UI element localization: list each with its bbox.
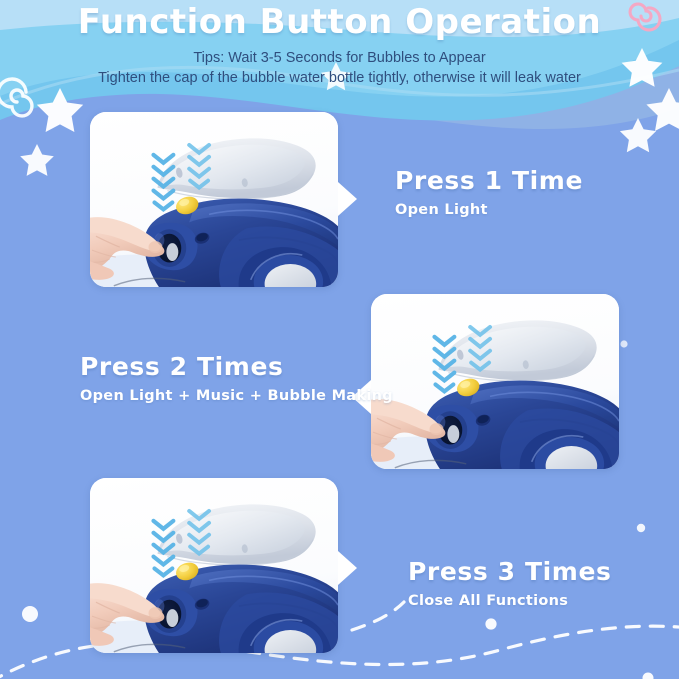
callout-pointer-3 [338,551,357,585]
step-photo-panel-2 [371,294,619,469]
step-text-3: Press 3 Times Close All Functions [408,557,611,609]
step-text-1: Press 1 Time Open Light [395,166,583,218]
product-photo-1 [90,112,338,287]
step-subtext-2: Open Light + Music + Bubble Making [80,388,393,404]
tip-line-1: Tips: Wait 3-5 Seconds for Bubbles to Ap… [0,50,679,66]
product-photo-3 [90,478,338,653]
step-heading-1: Press 1 Time [395,166,583,195]
step-text-2: Press 2 Times Open Light + Music + Bubbl… [80,352,393,404]
step-photo-panel-1 [90,112,338,287]
step-photo-panel-3 [90,478,338,653]
step-subtext-3: Close All Functions [408,593,611,609]
product-photo-2 [371,294,619,469]
tip-line-2: Tighten the cap of the bubble water bott… [0,70,679,86]
step-heading-3: Press 3 Times [408,557,611,586]
step-heading-2: Press 2 Times [80,352,393,381]
infographic-canvas: Function Button Operation Tips: Wait 3-5… [0,0,679,679]
page-title: Function Button Operation [0,2,679,42]
step-subtext-1: Open Light [395,202,583,218]
callout-pointer-1 [338,182,357,216]
